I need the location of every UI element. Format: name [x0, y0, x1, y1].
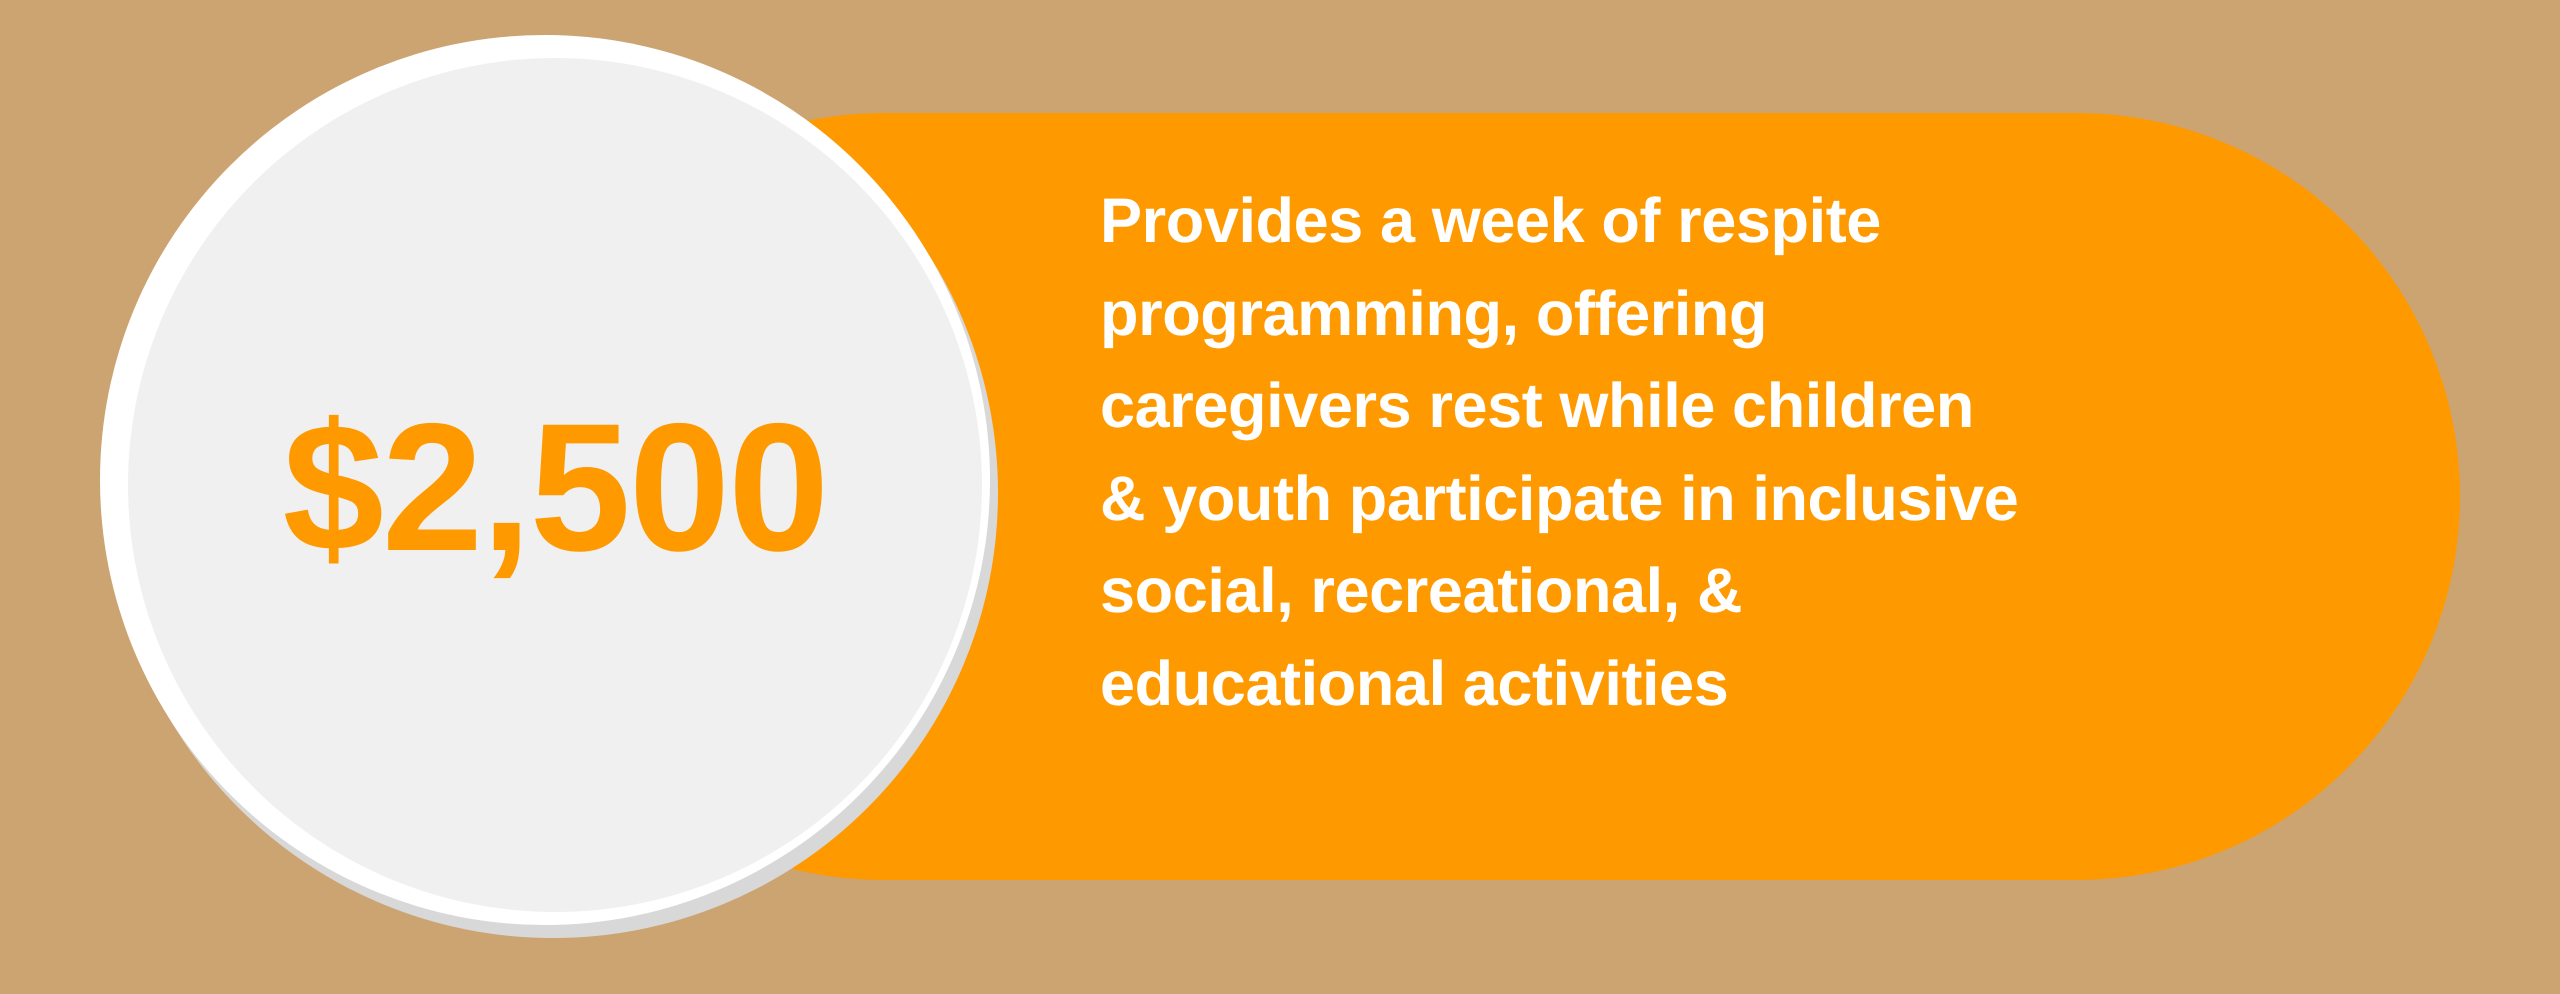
amount-circle-ring: $2,500 — [100, 35, 990, 925]
amount-circle: $2,500 — [90, 30, 1020, 960]
amount-circle-fill: $2,500 — [128, 58, 982, 912]
impact-description-text: Provides a week of respite programming, … — [1100, 175, 2370, 731]
donation-impact-card: Provides a week of respite programming, … — [0, 0, 2560, 994]
donation-amount-value: $2,500 — [283, 396, 828, 578]
